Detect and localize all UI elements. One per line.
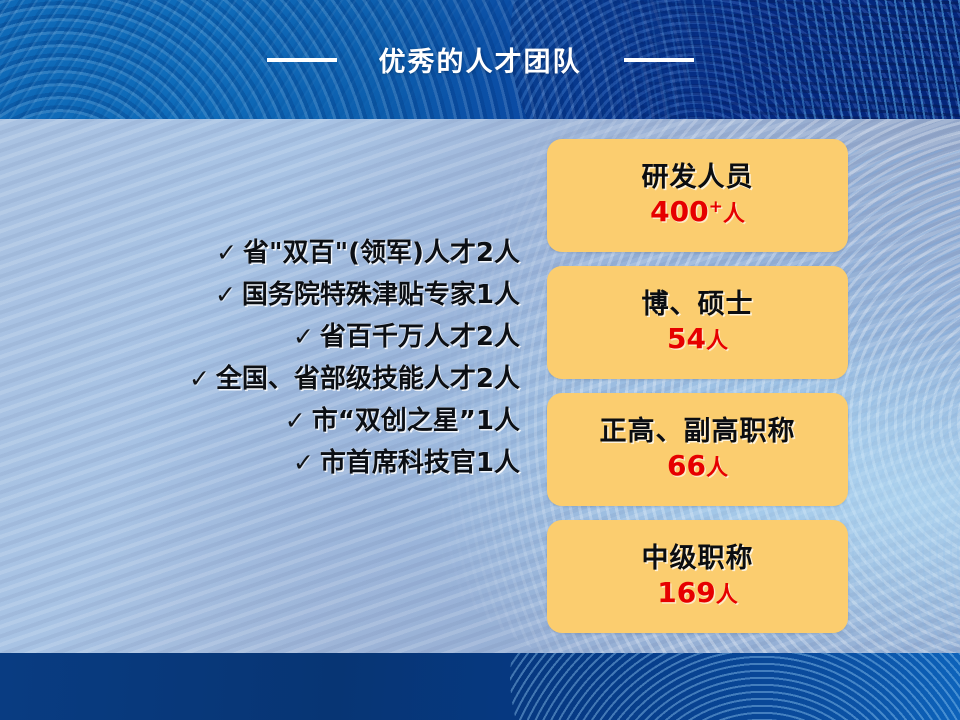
list-item-label: 省"双百"(领军)人才2人: [243, 232, 520, 269]
stat-card-unit: 人: [706, 456, 728, 481]
page-title: 优秀的人才团队: [379, 40, 582, 79]
stat-card-title: 研发人员: [642, 163, 754, 193]
stat-card-title: 正高、副高职称: [600, 417, 796, 447]
list-item-label: 省百千万人才2人: [320, 316, 520, 353]
header-title-row: 优秀的人才团队: [0, 0, 960, 119]
check-icon: ✓: [285, 408, 306, 433]
stat-card-senior-titles: 正高、副高职称 66 人: [547, 393, 848, 506]
stat-card-number: 54: [667, 323, 706, 355]
stat-card-number: 400: [650, 196, 708, 228]
credentials-list: ✓ 省"双百"(领军)人才2人 ✓ 国务院特殊津贴专家1人 ✓ 省百千万人才2人…: [40, 232, 520, 484]
title-left-rule-icon: [267, 58, 337, 62]
list-item-label: 全国、省部级技能人才2人: [216, 358, 520, 395]
footer-band: [0, 653, 960, 720]
stat-card-unit: 人: [716, 583, 738, 608]
list-item-label: 市首席科技官1人: [320, 442, 520, 479]
check-icon: ✓: [215, 282, 236, 307]
check-icon: ✓: [216, 240, 237, 265]
title-right-rule-icon: [624, 58, 694, 62]
slide-canvas: 优秀的人才团队 ✓ 省"双百"(领军)人才2人 ✓ 国务院特殊津贴专家1人 ✓ …: [0, 0, 960, 720]
check-icon: ✓: [293, 450, 314, 475]
list-item: ✓ 省百千万人才2人: [293, 316, 520, 353]
list-item: ✓ 国务院特殊津贴专家1人: [215, 274, 520, 311]
stat-card-number: 169: [657, 577, 715, 609]
stat-card-degrees: 博、硕士 54 人: [547, 266, 848, 379]
list-item: ✓ 全国、省部级技能人才2人: [189, 358, 520, 395]
stat-card-title: 中级职称: [642, 544, 754, 574]
list-item-label: 市“双创之星”1人: [312, 400, 520, 437]
stat-card-value: 169 人: [657, 577, 737, 609]
stat-card-superscript: +: [709, 198, 723, 218]
stat-card-value: 66 人: [667, 450, 728, 482]
list-item-label: 国务院特殊津贴专家1人: [242, 274, 520, 311]
list-item: ✓ 市“双创之星”1人: [285, 400, 520, 437]
stat-card-unit: 人: [706, 329, 728, 354]
footer-arc-pattern: [510, 653, 960, 720]
stat-card-number: 66: [667, 450, 706, 482]
check-icon: ✓: [189, 366, 210, 391]
stat-card-unit: 人: [723, 202, 745, 227]
list-item: ✓ 省"双百"(领军)人才2人: [216, 232, 520, 269]
check-icon: ✓: [293, 324, 314, 349]
stat-card-rd-staff: 研发人员 400 + 人: [547, 139, 848, 252]
stat-card-value: 54 人: [667, 323, 728, 355]
stat-card-value: 400 + 人: [650, 196, 745, 228]
stat-card-list: 研发人员 400 + 人 博、硕士 54 人 正高、副高职称 66 人: [547, 139, 848, 647]
list-item: ✓ 市首席科技官1人: [293, 442, 520, 479]
stat-card-title: 博、硕士: [642, 290, 754, 320]
stat-card-intermediate-titles: 中级职称 169 人: [547, 520, 848, 633]
